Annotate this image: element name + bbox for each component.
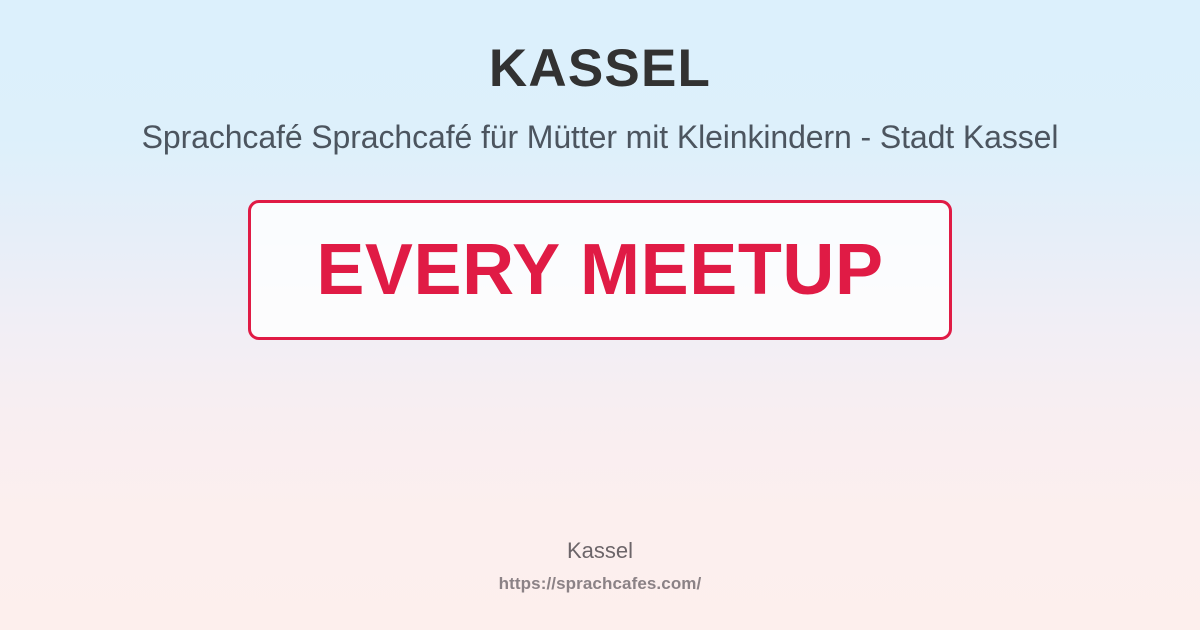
footer-city-label: Kassel — [0, 537, 1200, 565]
footer-site-url[interactable]: https://sprachcafes.com/ — [0, 574, 1200, 594]
page-title: KASSEL — [0, 0, 1200, 97]
every-meetup-label: EVERY MEETUP — [316, 234, 883, 306]
card-footer: Kassel https://sprachcafes.com/ — [0, 537, 1200, 594]
card-header: KASSEL Sprachcafé Sprachcafé für Mütter … — [0, 0, 1200, 159]
share-card: KASSEL Sprachcafé Sprachcafé für Mütter … — [0, 0, 1200, 630]
highlight-section: EVERY MEETUP — [0, 159, 1200, 340]
event-subtitle: Sprachcafé Sprachcafé für Mütter mit Kle… — [45, 97, 1155, 159]
every-meetup-badge[interactable]: EVERY MEETUP — [248, 200, 952, 340]
